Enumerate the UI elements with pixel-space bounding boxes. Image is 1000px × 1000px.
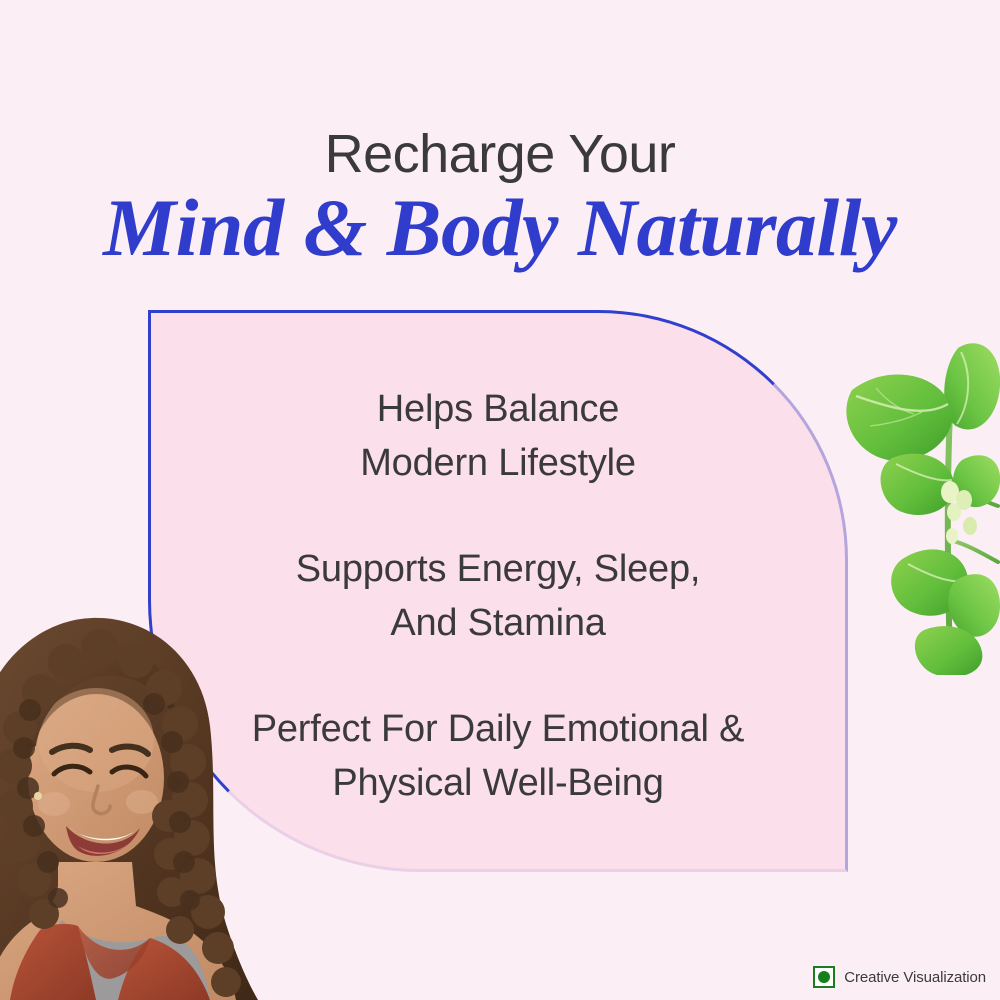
veg-mark-icon — [813, 966, 835, 988]
benefits-list: Helps Balance Modern Lifestyle Supports … — [148, 310, 848, 872]
headline: Recharge Your Mind & Body Naturally — [0, 126, 1000, 271]
benefit-item: Helps Balance Modern Lifestyle — [360, 383, 636, 491]
headline-line-1: Recharge Your — [0, 126, 1000, 183]
headline-line-2: Mind & Body Naturally — [0, 185, 1000, 271]
creative-visualization-badge: Creative Visualization — [813, 966, 986, 988]
ashwagandha-plant-image — [830, 330, 1000, 675]
badge-label: Creative Visualization — [844, 969, 986, 986]
veg-dot-icon — [818, 971, 830, 983]
benefit-item: Supports Energy, Sleep, And Stamina — [296, 543, 701, 651]
promo-poster: Recharge Your Mind & Body Naturally Help… — [0, 0, 1000, 1000]
benefit-item: Perfect For Daily Emotional & Physical W… — [252, 703, 745, 811]
